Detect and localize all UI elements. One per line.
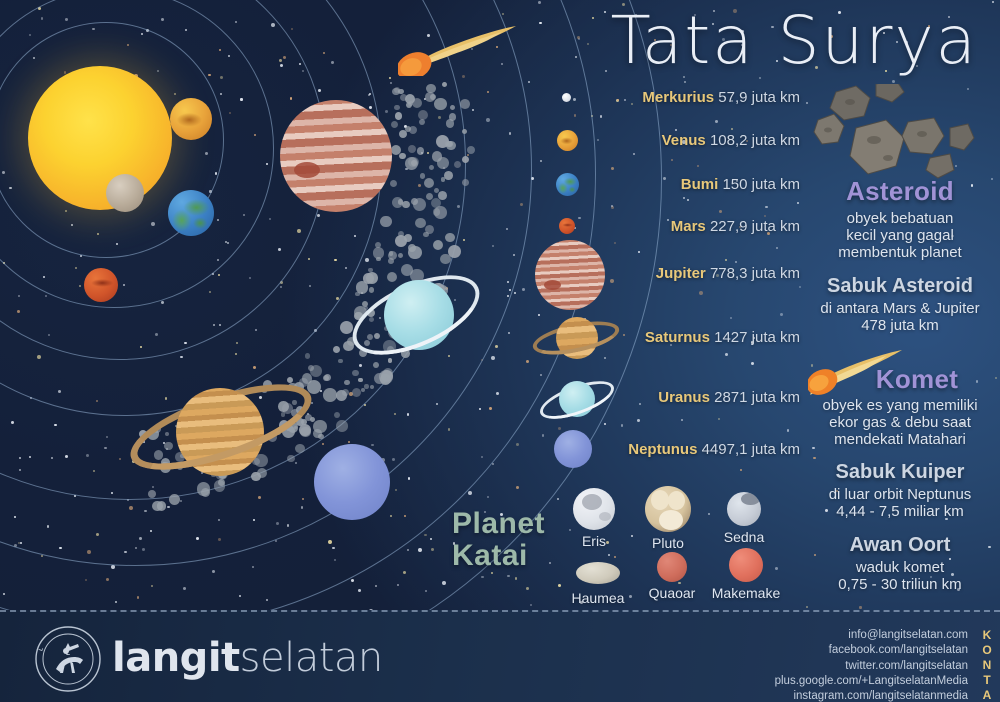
neptune-icon [554,430,592,468]
diagram-earth [168,190,214,236]
planet-label-jupiter: Jupiter 778,3 juta km [656,266,800,281]
comet-section: Komet obyek es yang memiliki ekor gas & … [800,364,1000,594]
planet-row-uranus: Uranus 2871 juta km [540,370,800,426]
footer: L L langitselatan info@langitselatan.com… [0,610,1000,702]
belt-asteroid [467,146,475,154]
belt-asteroid [413,198,426,211]
solar-system-infographic: Tata Surya Merkurius 57,9 juta km Venus … [0,0,1000,702]
belt-asteroid [409,126,417,134]
contact-twitter[interactable]: twitter.com/langitselatan [775,659,968,674]
sedna-icon [727,492,761,526]
planet-name: Venus [662,132,706,149]
dwarf-title-line-1: Planet [452,508,545,540]
dwarf-planets-title: Planet Katai [452,508,545,572]
asteroid-belt-description: di antara Mars & Jupiter 478 juta km [800,301,1000,335]
belt-asteroid [398,231,404,237]
comet-desc-line-1: obyek es yang memiliki [800,398,1000,415]
uranus-ring-front [341,259,490,371]
contact-googleplus[interactable]: plus.google.com/+LangitselatanMedia [775,674,968,689]
dwarf-planet-eris: Eris [558,488,630,549]
oort-line-2: 0,75 - 30 triliun km [800,577,1000,594]
planet-row-merkurius: Merkurius 57,9 juta km [540,88,800,110]
belt-asteroid [336,420,348,432]
belt-asteroid [445,233,455,243]
great-red-spot [294,162,320,178]
planet-label-venus: Venus 108,2 juta km [662,133,800,148]
belt-asteroid [398,253,403,258]
dwarf-planet-haumea: Haumea [562,556,634,606]
diagram-uranus-group [348,262,484,372]
quaoar-icon [657,552,687,582]
asteroid-desc-line-1: obyek bebatuan [800,211,1000,228]
brand-light: selatan [240,635,383,681]
planet-distance: 2871 juta km [714,389,800,406]
planet-name: Saturnus [645,329,710,346]
comet-desc-line-3: mendekati Matahari [800,432,1000,449]
great-red-spot [544,280,561,290]
dwarf-name: Makemake [708,585,784,601]
belt-asteroid [419,119,426,126]
haumea-icon [576,562,620,584]
kuiper-belt-heading: Sabuk Kuiper [800,461,1000,484]
eris-icon [573,488,615,530]
belt-asteroid [425,225,434,234]
belt-asteroid [462,156,470,164]
asteroid-cluster-illustration [812,84,992,180]
brand-wordmark: langitselatan [112,638,383,678]
kuiper-line-1: di luar orbit Neptunus [800,487,1000,504]
planet-row-bumi: Bumi 150 juta km [540,172,800,198]
comet-desc-line-2: ekor gas & debu saat [800,415,1000,432]
contact-list: info@langitselatan.com facebook.com/lang… [775,628,968,702]
belt-asteroid [444,171,453,180]
planet-row-venus: Venus 108,2 juta km [540,128,800,154]
diagram-mars [84,268,118,302]
dwarf-title-line-2: Katai [452,540,545,572]
planet-distance: 108,2 juta km [710,132,800,149]
belt-asteroid [408,157,419,168]
asteroid-description: obyek bebatuan kecil yang gagal membentu… [800,211,1000,261]
planet-name: Mars [671,218,706,235]
planet-name: Merkurius [642,89,714,106]
belt-asteroid [336,390,347,401]
planet-name: Jupiter [656,265,706,282]
planet-label-merkurius: Merkurius 57,9 juta km [642,90,800,105]
asteroid-belt-line-2: 478 juta km [800,318,1000,335]
belt-asteroid [361,388,365,392]
planet-name: Neptunus [628,441,697,458]
planet-distance: 150 juta km [722,176,800,193]
asteroid-desc-line-3: membentuk planet [800,245,1000,262]
planet-row-saturnus: Saturnus 1427 juta km [540,306,800,368]
diagram-saturn-group [128,366,318,496]
belt-asteroid [352,388,361,397]
belt-asteroid [415,218,426,229]
svg-text:L: L [66,650,70,657]
belt-asteroid [408,145,416,153]
planet-distance: 778,3 juta km [710,265,800,282]
belt-asteroid [434,206,447,219]
dwarf-name: Sedna [708,529,780,545]
planet-label-uranus: Uranus 2871 juta km [658,390,800,405]
belt-asteroid [376,257,381,262]
comet-description: obyek es yang memiliki ekor gas & debu s… [800,398,1000,448]
belt-asteroid [391,121,398,128]
oort-cloud-description: waduk komet 0,75 - 30 triliun km [800,560,1000,594]
dwarf-name: Quaoar [636,585,708,601]
asteroid-belt-heading: Sabuk Asteroid [800,275,1000,298]
dwarf-planet-pluto: Pluto [632,486,704,551]
belt-asteroid [334,412,340,418]
planet-distance: 57,9 juta km [718,89,800,106]
makemake-icon [729,548,763,582]
belt-asteroid [433,240,443,250]
jupiter-icon [535,240,605,310]
belt-asteroid [305,353,311,359]
dwarf-planet-quaoar: Quaoar [636,552,708,601]
belt-asteroid [426,84,436,94]
belt-asteroid [462,179,469,186]
diagram-venus [170,98,212,140]
dwarf-name: Eris [558,533,630,549]
belt-asteroid [324,374,331,381]
dwarf-name: Pluto [632,535,704,551]
uranus-icon [538,376,616,422]
venus-icon [557,130,578,151]
planet-label-saturnus: Saturnus 1427 juta km [645,330,800,345]
belt-asteroid [446,119,455,128]
contact-email[interactable]: info@langitselatan.com [775,628,968,643]
comet-illustration [398,20,520,76]
dwarf-planet-sedna: Sedna [708,492,780,545]
planet-distance: 1427 juta km [714,329,800,346]
contact-facebook[interactable]: facebook.com/langitselatan [775,643,968,658]
mercury-icon [562,93,571,102]
contact-instagram[interactable]: instagram.com/langitselatanmedia [775,689,968,702]
belt-asteroid [394,105,400,111]
belt-asteroid [399,153,405,159]
page-title: Tata Surya [611,2,979,79]
belt-asteroid [358,378,363,383]
belt-asteroid [442,82,447,87]
mars-icon [559,218,575,234]
belt-asteroid [460,99,470,109]
planet-label-bumi: Bumi 150 juta km [681,177,800,192]
belt-asteroid [404,234,412,242]
diagram-jupiter [280,100,392,212]
belt-asteroid [434,98,447,111]
belt-asteroid [398,199,404,205]
saturn-icon [532,312,620,364]
belt-asteroid [390,180,397,187]
belt-asteroid [323,388,337,402]
belt-asteroid [399,130,408,139]
diagram-neptune [314,444,390,520]
belt-asteroid [380,216,391,227]
comet-heading: Komet [834,364,1000,395]
belt-asteroid [333,346,340,353]
planet-label-mars: Mars 227,9 juta km [671,219,800,234]
contact-label: KONTAK [980,628,994,702]
planet-row-neptunus: Neptunus 4497,1 juta km [540,426,800,478]
asteroid-heading: Asteroid [800,176,1000,207]
oort-line-1: waduk komet [800,560,1000,577]
planet-distance: 4497,1 juta km [702,441,800,458]
planet-name: Uranus [658,389,710,406]
belt-asteroid [338,359,343,364]
belt-asteroid [429,165,434,170]
belt-asteroid [454,161,461,168]
belt-asteroid [449,113,456,120]
brand-bold: langit [112,635,240,681]
belt-asteroid [462,129,467,134]
langitselatan-logo: L L [34,625,102,693]
belt-asteroid [344,380,349,385]
diagram-mercury [106,174,144,212]
planet-row-jupiter: Jupiter 778,3 juta km [540,236,800,316]
asteroid-desc-line-2: kecil yang gagal [800,228,1000,245]
dwarf-name: Haumea [562,590,634,606]
dwarf-planet-makemake: Makemake [708,548,784,601]
earth-icon [556,173,579,196]
belt-asteroid [448,245,461,258]
planet-distance: 227,9 juta km [710,218,800,235]
planet-name: Bumi [681,176,719,193]
planet-label-neptunus: Neptunus 4497,1 juta km [628,442,800,457]
oort-cloud-heading: Awan Oort [800,534,1000,557]
belt-asteroid [402,201,410,209]
belt-asteroid [420,173,426,179]
belt-asteroid [425,92,435,102]
belt-asteroid [424,178,434,188]
belt-asteroid [157,501,166,510]
belt-asteroid [417,147,425,155]
kuiper-belt-description: di luar orbit Neptunus 4,44 - 7,5 miliar… [800,487,1000,521]
pluto-icon [645,486,691,532]
sun [28,66,172,210]
svg-text:L: L [38,646,45,652]
belt-asteroid [395,112,402,119]
kuiper-line-2: 4,44 - 7,5 miliar km [800,504,1000,521]
belt-asteroid [370,385,375,390]
belt-asteroid [450,105,456,111]
asteroid-section: Asteroid obyek bebatuan kecil yang gagal… [800,176,1000,335]
asteroid-belt-line-1: di antara Mars & Jupiter [800,301,1000,318]
